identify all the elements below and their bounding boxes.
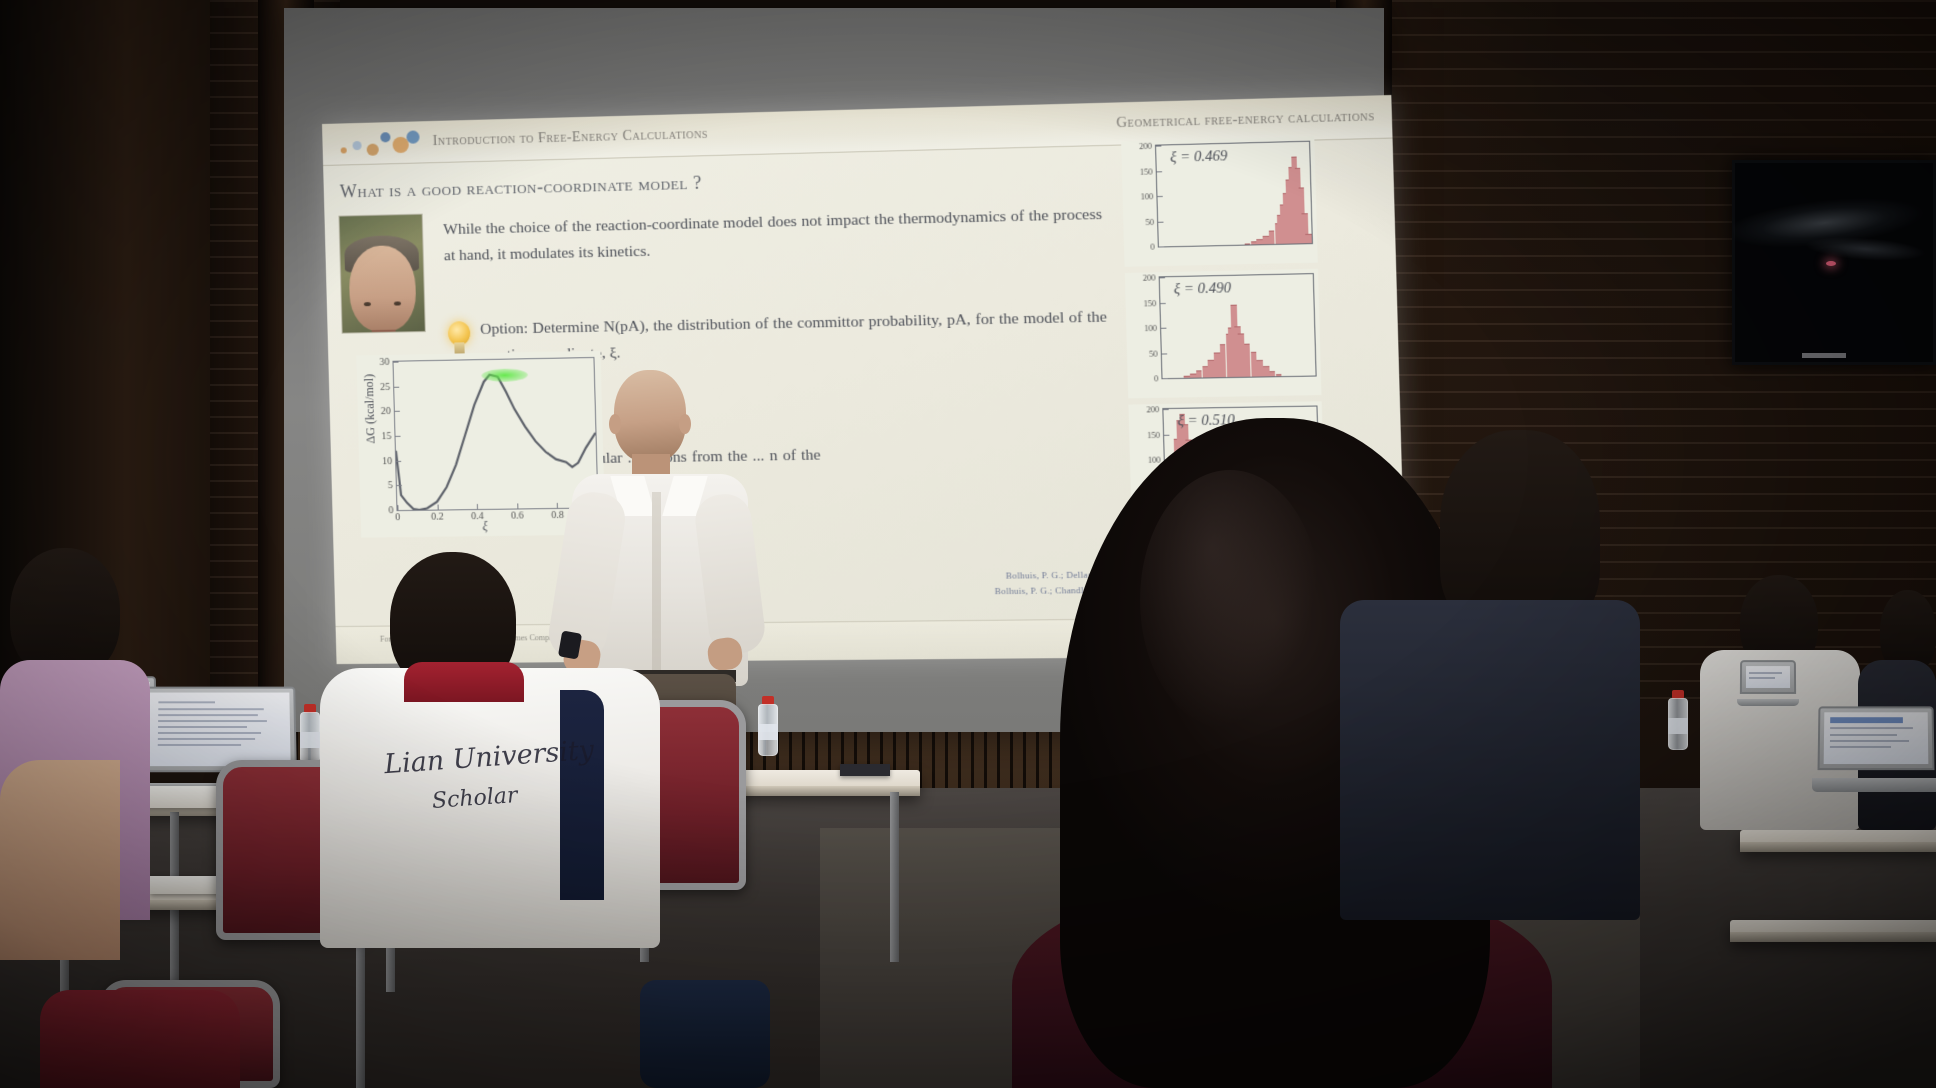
portrait-face [348, 245, 416, 333]
wall-mounted-display[interactable] [1732, 160, 1936, 365]
plot-xtick-mark [477, 504, 478, 509]
histogram-ytick-mark [1162, 353, 1167, 354]
bag [40, 990, 240, 1088]
plot-xtick-mark [437, 505, 438, 510]
histogram-ytick-mark [1157, 196, 1162, 197]
jacket-collar [404, 662, 524, 702]
display-brand-strip [1802, 353, 1846, 358]
jacket-side-stripe [560, 690, 604, 900]
histogram-ytick-mark [1163, 378, 1168, 379]
audience-member-arm [0, 760, 120, 960]
presenter-head [614, 370, 686, 462]
laptop-screen[interactable] [1746, 666, 1790, 688]
plot-xtick-mark [397, 505, 398, 510]
plot-ytick-label: 0 [388, 505, 393, 516]
plot-ytick-mark [394, 386, 399, 387]
histogram-ytick-label: 200 [1139, 141, 1152, 151]
histogram-ytick-mark [1158, 221, 1163, 222]
plot-xlabel: ξ [482, 519, 488, 534]
plot-ytick-mark [397, 485, 402, 486]
audience-member-body [1340, 600, 1640, 920]
plot-xtick-mark [557, 503, 558, 508]
histogram-bar [1269, 371, 1275, 376]
slide-paragraph-1: While the choice of the reaction-coordin… [443, 202, 1103, 269]
laptop-base [1812, 778, 1936, 792]
histogram-ytick-label: 100 [1140, 192, 1153, 202]
plot-ytick-label: 25 [380, 381, 390, 392]
histogram-ytick-mark [1161, 328, 1166, 329]
laptop-screen[interactable] [1824, 712, 1929, 763]
histogram-ytick-label: 50 [1145, 217, 1154, 226]
plot-ytick-mark [395, 411, 400, 412]
desk [1740, 830, 1936, 852]
screen-glare-secondary [1793, 218, 1936, 280]
plot-ytick-label: 15 [381, 430, 391, 441]
histogram-label-1: ξ = 0.469 [1170, 149, 1228, 167]
histogram-ytick-label: 150 [1140, 166, 1153, 176]
histogram-bar [1184, 376, 1190, 378]
laptop-lid [1740, 660, 1796, 694]
plot-ytick-label: 5 [388, 480, 393, 491]
histogram-bar [1306, 234, 1312, 243]
laptop[interactable] [1740, 660, 1796, 706]
histogram-ytick-label: 200 [1146, 405, 1159, 414]
histogram-ytick-label: 100 [1148, 455, 1161, 464]
laptop-base [1737, 699, 1799, 706]
histogram-ytick-label: 100 [1144, 323, 1157, 333]
histogram-ytick-mark [1157, 171, 1162, 172]
backpack [640, 980, 770, 1088]
histogram-bar [1276, 374, 1282, 376]
plot-xtick-label: 0 [395, 512, 400, 523]
plot-xtick-label: 0.2 [431, 511, 444, 522]
plot-ytick-mark [398, 510, 403, 511]
histogram-ytick-label: 150 [1143, 298, 1156, 308]
laptop-screen[interactable] [145, 693, 290, 766]
histogram-label-2: ξ = 0.490 [1174, 281, 1232, 299]
remote-device[interactable] [840, 764, 890, 776]
plot-ytick-label: 30 [379, 356, 389, 367]
plot-ytick-mark [393, 362, 398, 363]
histogram-ytick-mark [1164, 434, 1169, 435]
presenter-shirt-placket [652, 492, 661, 682]
histogram-ytick-label: 50 [1149, 348, 1158, 357]
decorative-dots-icon [340, 127, 427, 161]
histogram-bar [1244, 243, 1250, 245]
plot-xtick-label: 0.6 [511, 510, 524, 521]
histogram-bar [1263, 366, 1269, 376]
histogram-ytick-label: 0 [1150, 242, 1154, 251]
desk [1730, 920, 1936, 942]
histogram-bar [1190, 374, 1196, 378]
plot-ytick-mark [396, 436, 401, 437]
plot-ytick-mark [396, 461, 401, 462]
laptop[interactable] [1818, 706, 1934, 792]
plot-ytick-label: 10 [382, 455, 392, 466]
laptop-lid [1818, 706, 1935, 769]
audience-member-head [10, 548, 120, 678]
histogram-bar [1196, 370, 1202, 377]
histogram-ytick-mark [1160, 302, 1165, 303]
portrait-photo [338, 214, 425, 334]
lecture-hall-scene: Introduction to Free-Energy Calculations… [0, 0, 1936, 1088]
plot-xtick-mark [517, 503, 518, 508]
histogram-ytick-mark [1156, 146, 1161, 147]
committor-histogram-panel-1: 050100150200 ξ = 0.469 [1121, 136, 1318, 266]
histogram-bar [1257, 239, 1263, 244]
histogram-bar [1251, 241, 1257, 244]
slide-header-left: Introduction to Free-Energy Calculations [433, 127, 709, 150]
histogram-ytick-mark [1163, 409, 1168, 410]
histogram-ytick-mark [1159, 246, 1164, 247]
slide-header-right: Geometrical free-energy calculations [1116, 109, 1375, 132]
plot-ytick-label: 20 [381, 406, 391, 417]
foreground-hair-highlight [1140, 470, 1320, 730]
desk-leg [890, 792, 899, 962]
histogram-ytick-label: 200 [1143, 273, 1156, 283]
slide-title: What is a good reaction-coordinate model… [340, 173, 703, 203]
committor-histogram-panel-2: 050100150200 ξ = 0.490 [1125, 269, 1322, 399]
histogram-ytick-label: 150 [1147, 430, 1160, 439]
histogram-ytick-mark [1160, 277, 1165, 278]
power-led-icon [1826, 261, 1836, 266]
histogram-ytick-label: 0 [1154, 374, 1158, 383]
plot-ylabel: ΔG (kcal/mol) [361, 349, 379, 469]
